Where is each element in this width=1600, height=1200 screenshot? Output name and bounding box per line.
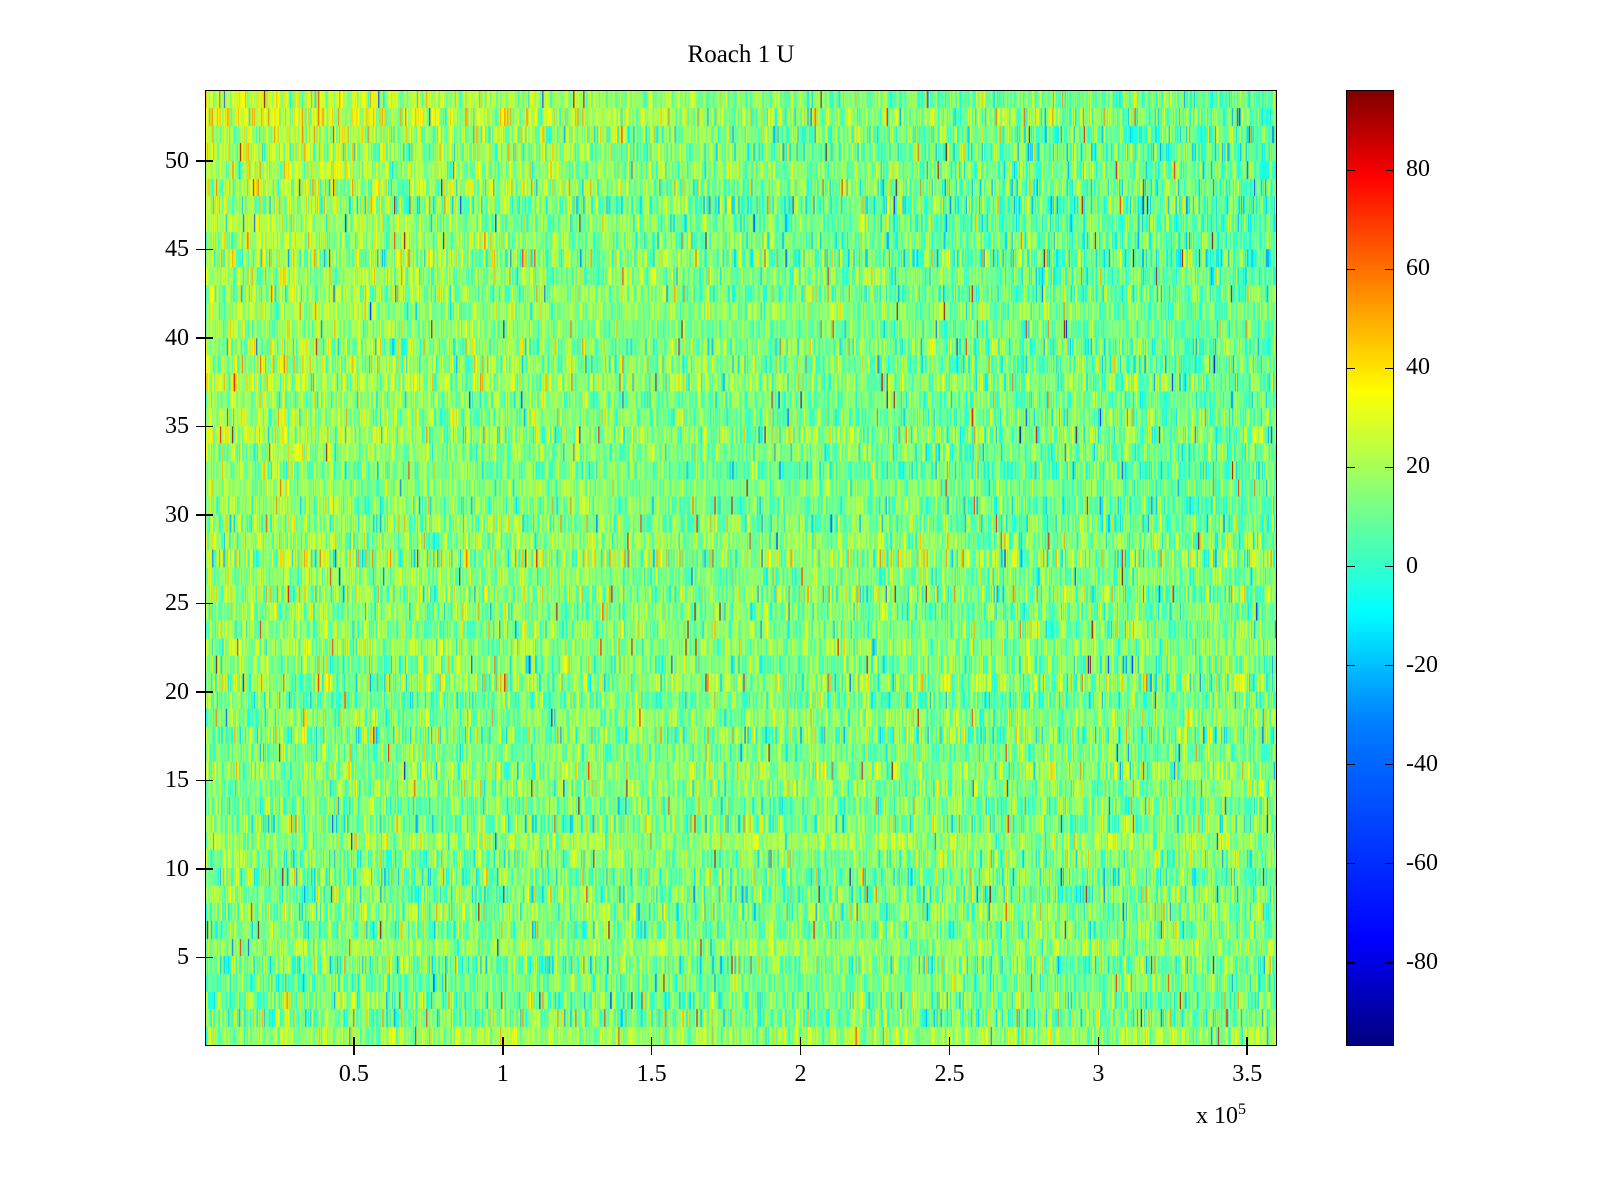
x-tick-mark-inner — [949, 1037, 951, 1045]
colorbar-tick-mark — [1385, 467, 1393, 469]
y-tick-mark-inner — [205, 249, 213, 251]
x-tick-mark — [353, 1046, 355, 1055]
colorbar-tick-label: 80 — [1406, 157, 1430, 181]
colorbar-tick-mark — [1385, 269, 1393, 271]
y-tick-mark — [196, 514, 205, 516]
colorbar-tick-mark — [1385, 764, 1393, 766]
y-tick-label: 10 — [129, 857, 189, 881]
colorbar-tick-mark — [1385, 368, 1393, 370]
y-tick-label: 15 — [129, 768, 189, 792]
colorbar-tick-label: -40 — [1406, 752, 1438, 776]
x-tick-mark — [502, 1046, 504, 1055]
x-tick-label: 2.5 — [909, 1062, 989, 1086]
colorbar-tick-mark — [1385, 665, 1393, 667]
y-tick-mark — [196, 603, 205, 605]
y-tick-label: 30 — [129, 503, 189, 527]
x-tick-label: 3 — [1058, 1062, 1138, 1086]
y-tick-mark — [196, 337, 205, 339]
colorbar-tick-mark — [1385, 863, 1393, 865]
y-tick-mark — [196, 957, 205, 959]
colorbar-tick-label: 20 — [1406, 454, 1430, 478]
y-tick-mark-inner — [205, 780, 213, 782]
colorbar-tick-mark — [1347, 863, 1355, 865]
y-tick-mark — [196, 160, 205, 162]
y-tick-mark-inner — [205, 868, 213, 870]
y-tick-mark — [196, 868, 205, 870]
y-tick-mark-inner — [205, 603, 213, 605]
y-tick-label: 40 — [129, 326, 189, 350]
colorbar-tick-label: 0 — [1406, 554, 1418, 578]
colorbar-tick-mark — [1347, 665, 1355, 667]
x-axis-exponent-base: x 10 — [1196, 1103, 1238, 1129]
x-tick-label: 3.5 — [1207, 1062, 1287, 1086]
x-tick-mark — [800, 1046, 802, 1055]
x-tick-label: 2 — [761, 1062, 841, 1086]
y-tick-label: 25 — [129, 591, 189, 615]
y-tick-label: 50 — [129, 149, 189, 173]
y-tick-mark — [196, 249, 205, 251]
y-tick-mark-inner — [205, 426, 213, 428]
matlab-figure-window: Roach 1 U 5101520253035404550 0.511.522.… — [0, 0, 1600, 1200]
y-tick-label: 5 — [129, 945, 189, 969]
colorbar-tick-mark — [1385, 962, 1393, 964]
y-tick-label: 45 — [129, 237, 189, 261]
colorbar-tick-mark — [1347, 170, 1355, 172]
colorbar-tick-mark — [1347, 269, 1355, 271]
x-tick-mark-inner — [651, 1037, 653, 1045]
colorbar-tick-mark — [1385, 566, 1393, 568]
colorbar-gradient — [1347, 91, 1393, 1045]
colorbar-tick-mark — [1347, 467, 1355, 469]
y-tick-mark-inner — [205, 337, 213, 339]
colorbar-tick-mark — [1347, 962, 1355, 964]
y-tick-label: 35 — [129, 414, 189, 438]
heatmap-raster — [206, 91, 1276, 1045]
y-tick-label: 20 — [129, 680, 189, 704]
x-tick-mark-inner — [502, 1037, 504, 1045]
x-tick-mark-inner — [1098, 1037, 1100, 1045]
x-axis-exponent-power: 5 — [1238, 1101, 1246, 1118]
colorbar-tick-label: 40 — [1406, 355, 1430, 379]
y-tick-mark — [196, 426, 205, 428]
heatmap-axes[interactable] — [205, 90, 1277, 1046]
page-title: Roach 1 U — [205, 42, 1277, 67]
colorbar-tick-mark — [1347, 566, 1355, 568]
x-tick-mark — [1246, 1046, 1248, 1055]
y-tick-mark-inner — [205, 691, 213, 693]
colorbar-tick-mark — [1385, 170, 1393, 172]
x-axis-exponent-label: x 105 — [1196, 1104, 1246, 1128]
y-tick-mark — [196, 780, 205, 782]
x-tick-label: 0.5 — [314, 1062, 394, 1086]
colorbar-tick-label: -80 — [1406, 950, 1438, 974]
y-tick-mark-inner — [205, 160, 213, 162]
y-tick-mark — [196, 691, 205, 693]
y-tick-mark-inner — [205, 514, 213, 516]
colorbar-tick-mark — [1347, 764, 1355, 766]
colorbar-tick-label: -60 — [1406, 851, 1438, 875]
colorbar-tick-label: -20 — [1406, 653, 1438, 677]
x-tick-mark — [949, 1046, 951, 1055]
colorbar-tick-mark — [1347, 368, 1355, 370]
x-tick-mark — [651, 1046, 653, 1055]
x-tick-mark — [1098, 1046, 1100, 1055]
colorbar[interactable] — [1346, 90, 1394, 1046]
x-tick-mark-inner — [800, 1037, 802, 1045]
x-tick-label: 1 — [463, 1062, 543, 1086]
y-tick-mark-inner — [205, 957, 213, 959]
x-tick-label: 1.5 — [612, 1062, 692, 1086]
x-tick-mark-inner — [1246, 1037, 1248, 1045]
x-tick-mark-inner — [353, 1037, 355, 1045]
colorbar-tick-label: 60 — [1406, 256, 1430, 280]
